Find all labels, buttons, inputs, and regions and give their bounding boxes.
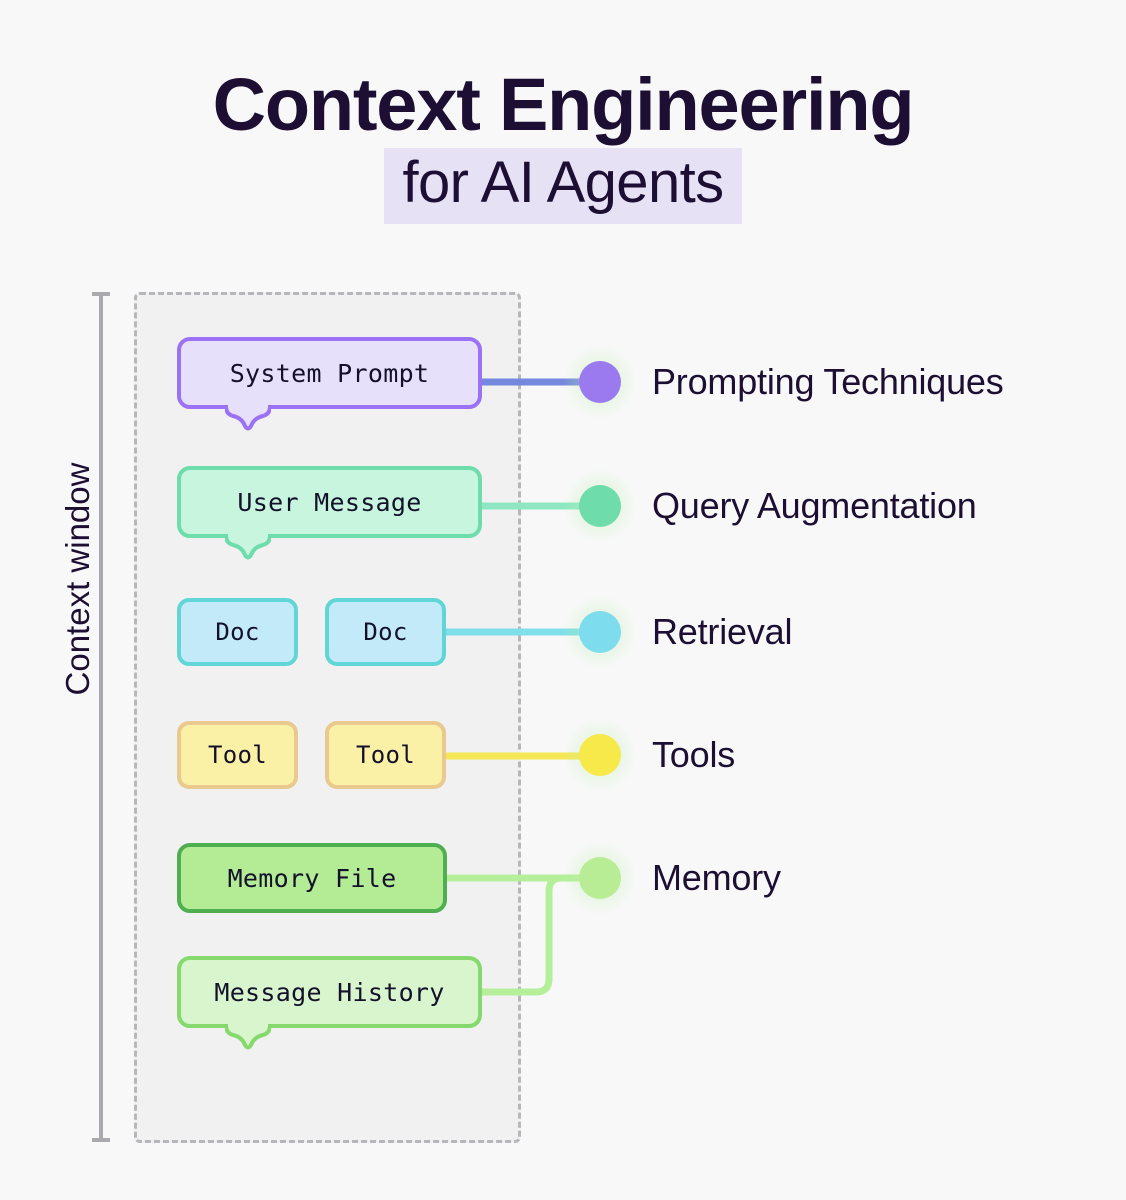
dot-core <box>579 485 621 527</box>
block-system-prompt[interactable]: System Prompt <box>177 337 482 409</box>
dot-core <box>579 611 621 653</box>
block-tool-2[interactable]: Tool <box>325 721 446 789</box>
dot-core <box>579 857 621 899</box>
page-subtitle: for AI Agents <box>384 148 741 224</box>
block-label: Doc <box>215 618 259 646</box>
page-title: Context Engineering <box>0 66 1126 144</box>
technique-label-tools: Tools <box>652 737 735 773</box>
block-memory-file[interactable]: Memory File <box>177 843 447 913</box>
block-label: Message History <box>214 978 444 1007</box>
bubble-tail <box>225 1024 271 1050</box>
block-label: Doc <box>363 618 407 646</box>
technique-label-prompting: Prompting Techniques <box>652 364 1004 400</box>
block-label: Memory File <box>228 864 397 893</box>
title-block: Context Engineering for AI Agents <box>0 66 1126 224</box>
dot-core <box>579 361 621 403</box>
block-doc-1[interactable]: Doc <box>177 598 298 666</box>
subtitle-wrap: for AI Agents <box>0 148 1126 224</box>
bracket-cap-bottom <box>92 1138 110 1142</box>
block-label: User Message <box>237 488 421 517</box>
block-message-history[interactable]: Message History <box>177 956 482 1028</box>
block-label: Tool <box>208 741 267 769</box>
block-label: Tool <box>356 741 415 769</box>
node-dot-retrieval[interactable] <box>579 611 621 653</box>
technique-label-retrieval: Retrieval <box>652 614 792 650</box>
bubble-tail <box>225 405 271 431</box>
node-dot-memory[interactable] <box>579 857 621 899</box>
block-user-message[interactable]: User Message <box>177 466 482 538</box>
node-dot-query-augmentation[interactable] <box>579 485 621 527</box>
dot-core <box>579 734 621 776</box>
block-doc-2[interactable]: Doc <box>325 598 446 666</box>
bubble-tail <box>225 534 271 560</box>
node-dot-tools[interactable] <box>579 734 621 776</box>
technique-label-memory: Memory <box>652 860 781 896</box>
technique-label-query-augmentation: Query Augmentation <box>652 488 977 524</box>
node-dot-prompting[interactable] <box>579 361 621 403</box>
bracket-stem <box>99 292 103 1142</box>
block-tool-1[interactable]: Tool <box>177 721 298 789</box>
context-window-bracket <box>92 292 110 1142</box>
block-label: System Prompt <box>230 359 430 388</box>
